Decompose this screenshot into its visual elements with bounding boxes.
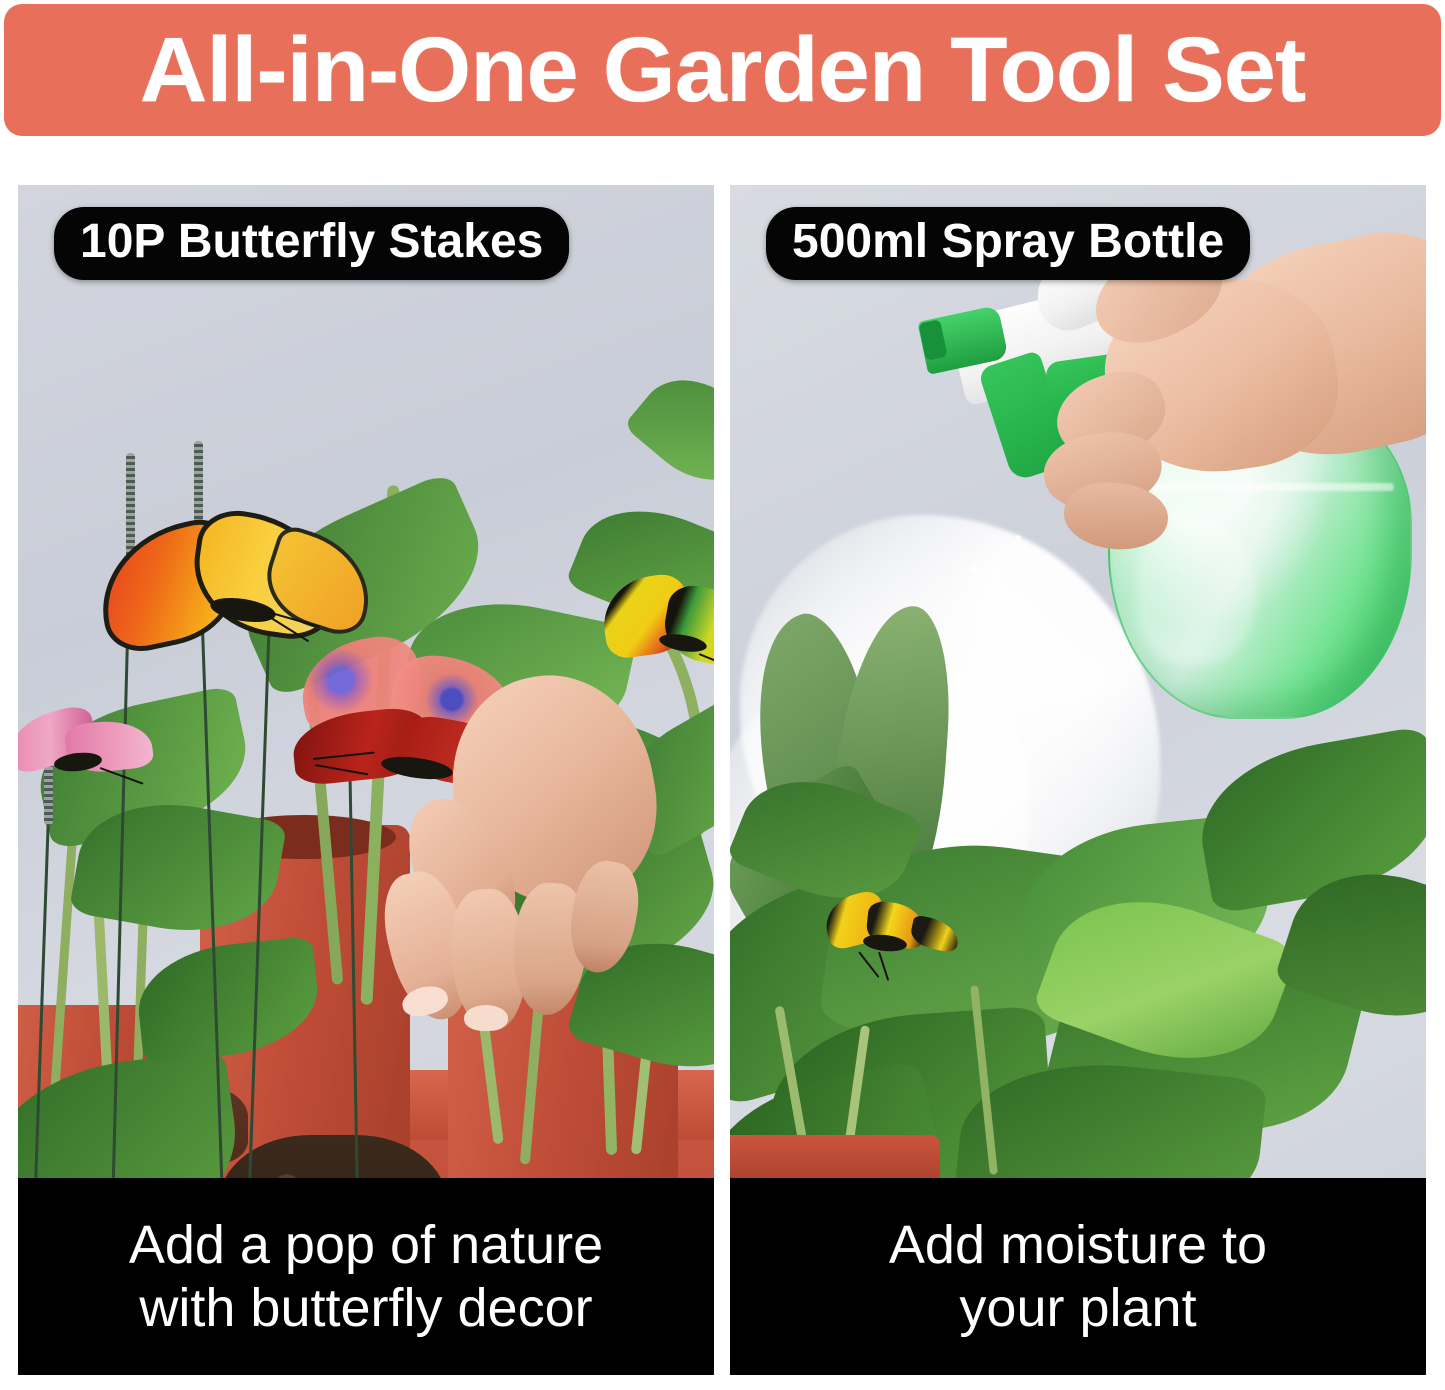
product-infographic: All-in-One Garden Tool Set <box>0 0 1445 1390</box>
badge-spray-bottle: 500ml Spray Bottle <box>766 207 1250 280</box>
hand <box>408 675 678 1055</box>
caption-line-2: with butterfly decor <box>139 1277 592 1340</box>
page-title: All-in-One Garden Tool Set <box>140 24 1306 116</box>
badge-label: 10P Butterfly Stakes <box>80 215 543 268</box>
pink-butterfly <box>18 713 158 808</box>
photo-butterfly-stakes: 10P Butterfly Stakes <box>18 185 714 1178</box>
plant-pot <box>730 1135 940 1178</box>
yellow-green-butterfly <box>603 575 714 685</box>
header-banner: All-in-One Garden Tool Set <box>4 4 1441 136</box>
panel-row: 10P Butterfly Stakes Add a pop of nature… <box>18 185 1427 1375</box>
caption-spray-bottle: Add moisture to your plant <box>730 1178 1426 1375</box>
photo-spray-bottle: 500ml Spray Bottle <box>730 185 1426 1178</box>
panel-butterfly-stakes: 10P Butterfly Stakes Add a pop of nature… <box>18 185 714 1375</box>
caption-line-1: Add moisture to <box>889 1214 1267 1277</box>
caption-line-1: Add a pop of nature <box>129 1214 603 1277</box>
yellow-black-butterfly <box>825 895 965 975</box>
hand <box>1030 225 1426 625</box>
panel-spray-bottle: 500ml Spray Bottle Add moisture to your … <box>730 185 1426 1375</box>
caption-line-2: your plant <box>959 1277 1196 1340</box>
badge-butterfly-stakes: 10P Butterfly Stakes <box>54 207 569 280</box>
caption-butterfly-stakes: Add a pop of nature with butterfly decor <box>18 1178 714 1375</box>
badge-label: 500ml Spray Bottle <box>792 215 1224 268</box>
